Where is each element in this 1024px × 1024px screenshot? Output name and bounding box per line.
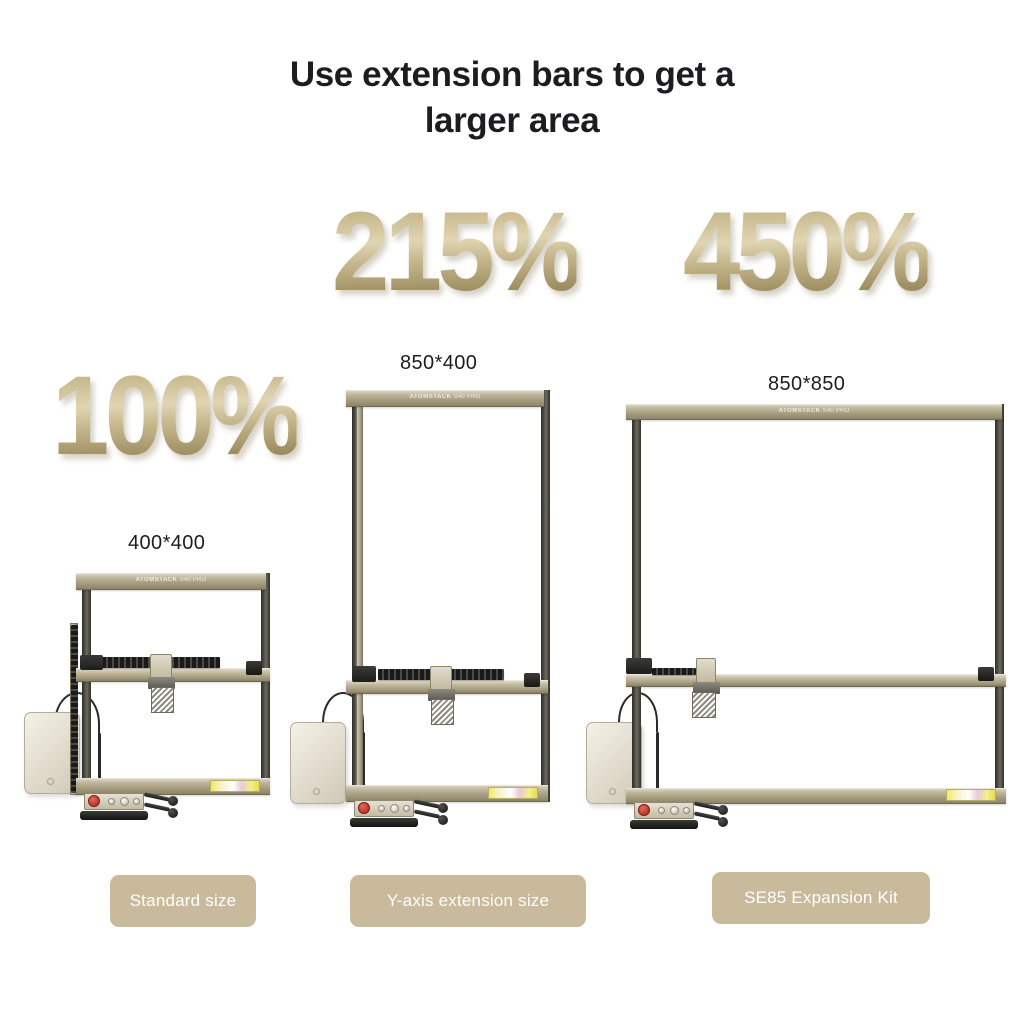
brand-logo-2: ATOMSTACK S40 PRO: [346, 394, 544, 400]
y-axis-drag-chain-1: [71, 625, 78, 793]
laser-engraver-400x400: ATOMSTACK S40 PRO: [24, 565, 278, 835]
badge-215-percent: 215%: [332, 196, 577, 308]
x-axis-gantry-3: [626, 674, 1006, 687]
support-rod-lower-1: [144, 802, 170, 811]
laser-engraver-850x400: ATOMSTACK S40 PRO: [290, 382, 558, 834]
emergency-stop-button-3[interactable]: [638, 804, 650, 816]
laser-warning-label-2: [488, 787, 538, 799]
frame-right-post-3: [995, 404, 1004, 804]
support-rod-lower-3: [694, 811, 720, 820]
page-title: Use extension bars to get a larger area: [0, 52, 1024, 143]
control-knob-c-2[interactable]: [403, 805, 410, 812]
x-axis-motor-3: [626, 658, 652, 674]
gantry-carriage-right-3: [978, 667, 994, 681]
x-axis-drag-chain-3: [652, 668, 696, 675]
support-foot-bar-1: [80, 811, 148, 820]
support-rod-lower-2: [414, 809, 440, 818]
dimension-label-850x850: 850*850: [768, 373, 845, 396]
support-rod-knob-upper-2: [438, 803, 448, 813]
frame-left-post-1: [82, 573, 91, 795]
page-title-line-1: Use extension bars to get a: [290, 55, 734, 94]
laser-engraver-850x850: ATOMSTACK S40 PRO: [600, 396, 1012, 834]
caption-standard-size[interactable]: Standard size: [110, 875, 256, 927]
support-foot-bar-3: [630, 820, 698, 829]
caption-se85-expansion-kit-label: SE85 Expansion Kit: [744, 888, 898, 908]
control-knob-a-3[interactable]: [658, 807, 665, 814]
pump-indicator-3: [609, 788, 616, 795]
emergency-stop-button-1[interactable]: [88, 795, 100, 807]
y-axis-rail-2: [356, 392, 363, 800]
laser-heatsink-1: [151, 687, 174, 713]
support-rod-knob-lower-3: [718, 817, 728, 827]
support-rod-knob-upper-1: [168, 796, 178, 806]
frame-right-post-1: [261, 573, 270, 795]
badge-100-percent: 100%: [52, 360, 297, 472]
dimension-label-850x400: 850*400: [400, 352, 477, 375]
x-axis-motor-2: [352, 666, 376, 682]
frame-right-post-2: [541, 390, 550, 802]
gantry-carriage-right-1: [246, 661, 262, 675]
control-knob-a-1[interactable]: [108, 798, 115, 805]
control-knob-b-2[interactable]: [390, 804, 399, 813]
support-foot-bar-2: [350, 818, 418, 827]
x-axis-motor-1: [80, 655, 103, 670]
page-title-line-2: larger area: [0, 98, 1024, 144]
caption-se85-expansion-kit[interactable]: SE85 Expansion Kit: [712, 872, 930, 924]
dimension-label-400x400: 400*400: [128, 532, 205, 555]
laser-heatsink-3: [692, 692, 716, 718]
laser-heatsink-2: [431, 699, 454, 725]
caption-y-axis-extension-size[interactable]: Y-axis extension size: [350, 875, 586, 927]
support-rod-knob-upper-3: [718, 805, 728, 815]
control-knob-b-1[interactable]: [120, 797, 129, 806]
control-knob-c-1[interactable]: [133, 798, 140, 805]
pump-indicator-1: [47, 778, 54, 785]
gantry-carriage-right-2: [524, 673, 540, 687]
support-rod-knob-lower-2: [438, 815, 448, 825]
support-rod-knob-lower-1: [168, 808, 178, 818]
frame-left-post-3: [632, 404, 641, 804]
control-knob-c-3[interactable]: [683, 807, 690, 814]
brand-logo-1: ATOMSTACK S40 PRO: [76, 577, 266, 583]
control-knob-b-3[interactable]: [670, 806, 679, 815]
laser-warning-label-1: [210, 780, 260, 792]
badge-450-percent: 450%: [683, 196, 928, 308]
pump-indicator-2: [313, 788, 320, 795]
brand-logo-3: ATOMSTACK S40 PRO: [626, 408, 1002, 414]
emergency-stop-button-2[interactable]: [358, 802, 370, 814]
control-knob-a-2[interactable]: [378, 805, 385, 812]
laser-warning-label-3: [946, 789, 996, 801]
caption-standard-size-label: Standard size: [130, 891, 237, 911]
caption-y-axis-extension-size-label: Y-axis extension size: [387, 891, 549, 911]
